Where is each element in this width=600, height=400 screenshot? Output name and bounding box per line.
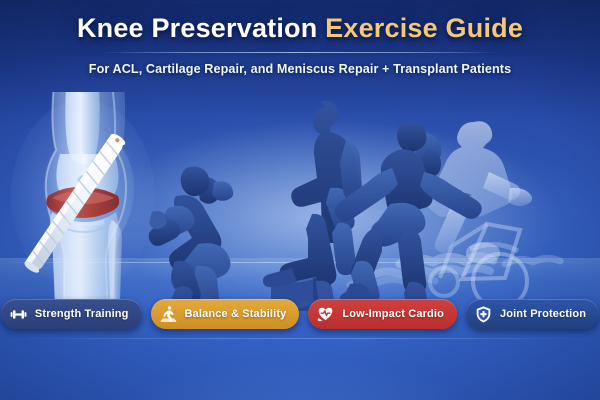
- page-title: Knee Preservation Exercise Guide: [0, 14, 600, 43]
- badge-label: Low-Impact Cardio: [342, 308, 444, 320]
- exercise-figures-group: [0, 96, 600, 311]
- title-accent: Exercise Guide: [325, 13, 523, 43]
- dumbbell-icon: [9, 305, 28, 324]
- title-primary: Knee Preservation: [77, 13, 318, 43]
- category-badge-row: Strength Training Balance & Stability: [0, 298, 600, 330]
- floor-lower-line: [0, 338, 600, 339]
- title-divider: [102, 52, 498, 53]
- badge-balance-stability[interactable]: Balance & Stability: [151, 299, 300, 329]
- knee-preservation-poster: Knee Preservation Exercise Guide For ACL…: [0, 0, 600, 400]
- poster-header: Knee Preservation Exercise Guide For ACL…: [0, 14, 600, 76]
- badge-label: Balance & Stability: [185, 308, 287, 320]
- page-subtitle: For ACL, Cartilage Repair, and Meniscus …: [0, 62, 600, 76]
- shield-plus-icon: [474, 305, 493, 324]
- badge-label: Strength Training: [35, 308, 129, 320]
- badge-label: Joint Protection: [500, 308, 586, 320]
- badge-strength-training[interactable]: Strength Training: [1, 299, 142, 329]
- badge-joint-protection[interactable]: Joint Protection: [466, 299, 599, 329]
- heart-pulse-icon: [316, 305, 335, 324]
- badge-low-impact-cardio[interactable]: Low-Impact Cardio: [308, 299, 457, 329]
- treadmill-runner-icon: [159, 305, 178, 324]
